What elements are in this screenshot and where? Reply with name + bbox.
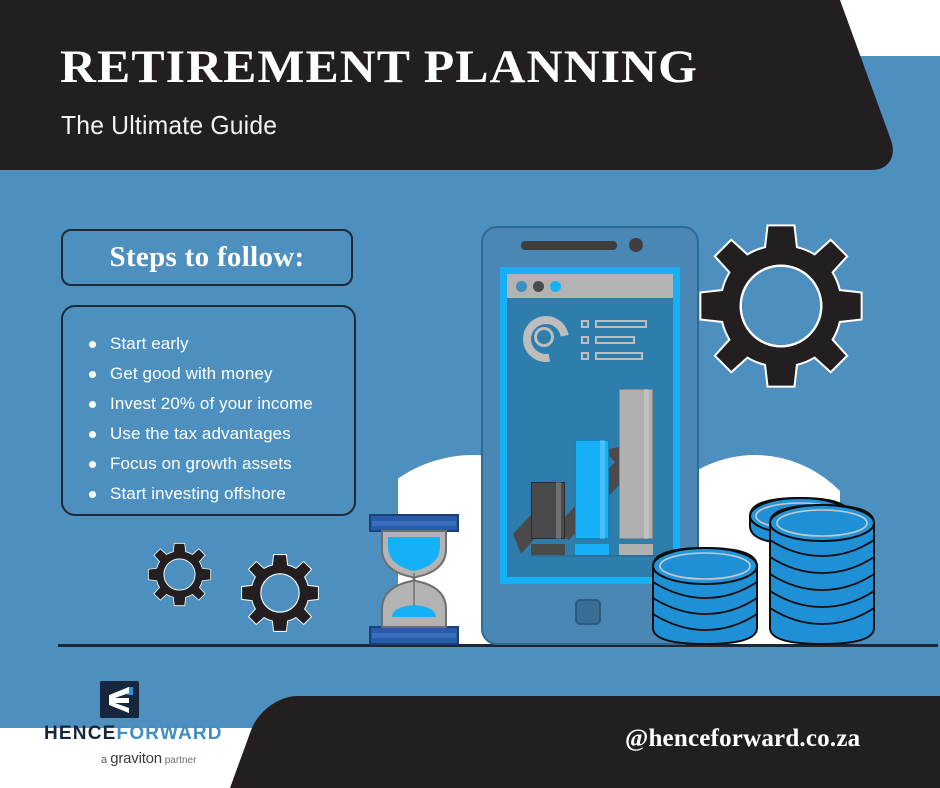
gear-icon-small-left xyxy=(147,542,212,607)
chart-bar-dark xyxy=(531,482,565,539)
brand-wordmark: HENCEFORWARD xyxy=(44,723,223,745)
footer-handle[interactable]: @henceforward.co.za xyxy=(625,725,860,753)
list-item: Focus on growth assets xyxy=(89,449,354,479)
list-item-label: Start early xyxy=(110,334,189,354)
phone-camera-icon xyxy=(629,238,643,252)
bullet-icon xyxy=(89,341,96,348)
hourglass-icon xyxy=(368,513,460,646)
bullet-icon xyxy=(89,431,96,438)
chart-baseline xyxy=(531,555,661,557)
coin-stack-front xyxy=(653,548,757,644)
brand-tagline-brand: graviton xyxy=(110,750,162,767)
brand-wordmark-part1: HENCE xyxy=(44,723,117,744)
page-subtitle: The Ultimate Guide xyxy=(61,110,277,141)
brand-tagline-prefix: a xyxy=(101,754,110,766)
chart-base-dark xyxy=(531,544,565,555)
list-item-label: Get good with money xyxy=(110,364,273,384)
steps-heading-box: Steps to follow: xyxy=(61,229,353,286)
steps-heading-label: Steps to follow: xyxy=(110,241,305,274)
bullet-icon xyxy=(89,491,96,498)
chart-base-cyan xyxy=(575,544,609,555)
list-item-label: Invest 20% of your income xyxy=(110,394,313,414)
list-item: Get good with money xyxy=(89,359,354,389)
chart-bar-cyan xyxy=(575,440,609,539)
gear-icon-small-right xyxy=(240,553,320,633)
list-item: Start early xyxy=(89,329,354,359)
brand-tagline-suffix: partner xyxy=(162,755,196,766)
steps-list-box: Start early Get good with money Invest 2… xyxy=(61,305,356,516)
list-item-label: Focus on growth assets xyxy=(110,454,292,474)
list-item: Invest 20% of your income xyxy=(89,389,354,419)
gear-icon-large xyxy=(697,222,865,390)
infographic-canvas: RETIREMENT PLANNING The Ultimate Guide S… xyxy=(0,0,940,788)
bullet-icon xyxy=(89,401,96,408)
bullet-icon xyxy=(89,371,96,378)
phone-speaker xyxy=(521,241,617,250)
phone-home-button[interactable] xyxy=(575,599,601,625)
page-title: RETIREMENT PLANNING xyxy=(60,44,698,91)
list-item: Use the tax advantages xyxy=(89,419,354,449)
brand-wordmark-part2: FORWARD xyxy=(117,723,223,744)
brand-logo-icon xyxy=(100,681,139,718)
list-item-label: Use the tax advantages xyxy=(110,424,291,444)
list-item-label: Start investing offshore xyxy=(110,484,286,504)
coin-stacks-illustration xyxy=(645,478,885,646)
brand-tagline: a graviton partner xyxy=(101,750,196,767)
coin-stack-back-body xyxy=(770,505,874,644)
list-item: Start investing offshore xyxy=(89,479,354,509)
bullet-icon xyxy=(89,461,96,468)
